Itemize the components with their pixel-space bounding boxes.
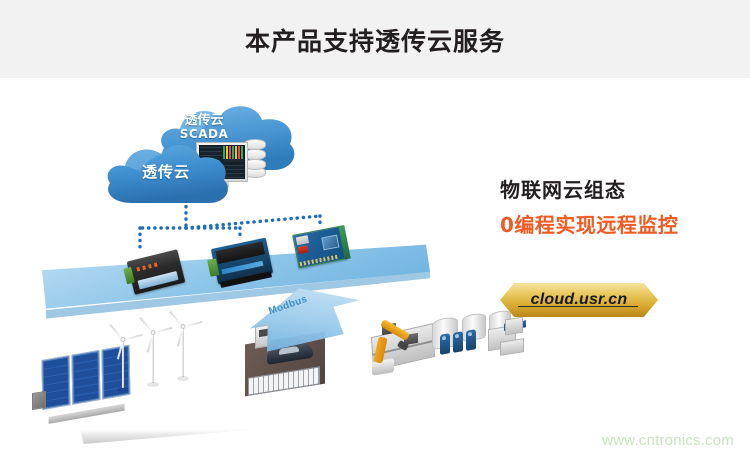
process-unit-icon — [466, 329, 476, 351]
callout-main: 物联网云组态 — [500, 174, 626, 203]
industrial-gateway-icon — [211, 238, 273, 285]
watermark: www.cntronics.com — [602, 432, 734, 449]
url-banner-label[interactable]: cloud.usr.cn — [500, 283, 658, 317]
cloud-shape-icon — [100, 138, 232, 210]
process-unit-icon — [453, 331, 463, 353]
wind-turbine-icon — [170, 327, 196, 377]
callout-sub: 0编程实现远程监控 — [500, 209, 678, 238]
robot-arm-icon — [358, 318, 418, 374]
solar-inverter-box-icon — [32, 391, 46, 410]
url-underline — [518, 306, 638, 307]
wind-turbine-icon — [110, 340, 136, 388]
page-title: 本产品支持透传云服务 — [0, 22, 750, 58]
factory-icon — [505, 317, 523, 336]
infographic-page: 本产品支持透传云服务 — [0, 0, 750, 459]
wind-turbine-icon — [140, 333, 166, 383]
process-unit-icon — [440, 333, 450, 355]
transparent-cloud: 透传云 — [100, 138, 232, 210]
